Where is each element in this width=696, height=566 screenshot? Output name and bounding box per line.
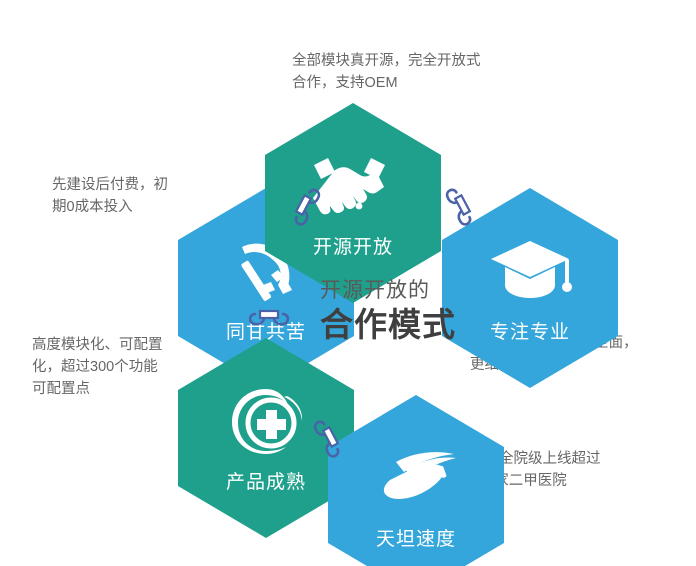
bullet-train-icon	[328, 435, 504, 521]
caption-shared-fortune: 先建设后付费，初 期0成本投入	[52, 174, 168, 218]
hex-label-mature-product: 产品成熟	[178, 473, 354, 492]
center-headline: 合作模式	[320, 306, 480, 344]
caption-mature-product: 高度模块化、可配置 化，超过300个功能 可配置点	[32, 334, 163, 400]
infographic-canvas: 全部模块真开源，完全开放式 合作，支持OEM 先建设后付费，初 期0成本投入 高…	[0, 0, 696, 566]
hex-speed[interactable]: 天坦速度	[328, 395, 504, 566]
hex-label-speed: 天坦速度	[328, 530, 504, 549]
connector-clip-left	[246, 300, 292, 346]
center-subtitle: 开源开放的	[320, 278, 480, 304]
caption-open-source: 全部模块真开源，完全开放式 合作，支持OEM	[292, 50, 481, 94]
center-title-block: 开源开放的 合作模式	[320, 278, 480, 344]
hex-label-open-source: 开源开放	[265, 238, 441, 257]
